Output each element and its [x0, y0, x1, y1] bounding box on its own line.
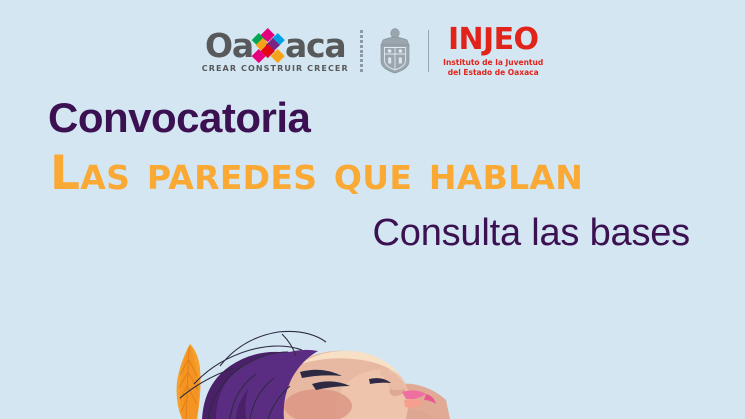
- oaxaca-wordmark: Oa aca: [205, 29, 345, 61]
- page-title: Las Paredes Que Hablan: [0, 150, 745, 197]
- vertical-rule: [428, 30, 429, 72]
- injeo-subtitle: Instituto de la Juventud del Estado de O…: [443, 58, 543, 77]
- oaxaca-word-left: Oa: [205, 29, 253, 62]
- headline-block: Convocatoria Las Paredes Que Hablan Cons…: [0, 97, 745, 252]
- page-subtitle: Consulta las bases: [0, 214, 745, 252]
- woman-face-illustration: [150, 320, 460, 419]
- dotted-divider-icon: [360, 30, 364, 72]
- oaxaca-tagline: CREAR CONSTRUIR CRECER: [202, 64, 349, 73]
- injeo-logo: INJEO Instituto de la Juventud del Estad…: [443, 25, 543, 77]
- oaxaca-coat-of-arms-icon: [375, 28, 415, 74]
- oaxaca-logo: Oa aca CREAR CONSTRUIR CRECER: [202, 29, 349, 73]
- logo-bar: Oa aca CREAR CONSTRUIR CRECER: [0, 24, 745, 78]
- oaxaca-pinwheel-icon: [254, 30, 284, 60]
- poster-canvas: Oa aca CREAR CONSTRUIR CRECER: [0, 0, 745, 419]
- injeo-subtitle-line2: del Estado de Oaxaca: [443, 68, 543, 77]
- injeo-subtitle-line1: Instituto de la Juventud: [443, 58, 543, 67]
- injeo-wordmark: INJEO: [448, 25, 538, 55]
- eyebrow-text: Convocatoria: [0, 97, 745, 139]
- oaxaca-word-right: aca: [285, 29, 346, 62]
